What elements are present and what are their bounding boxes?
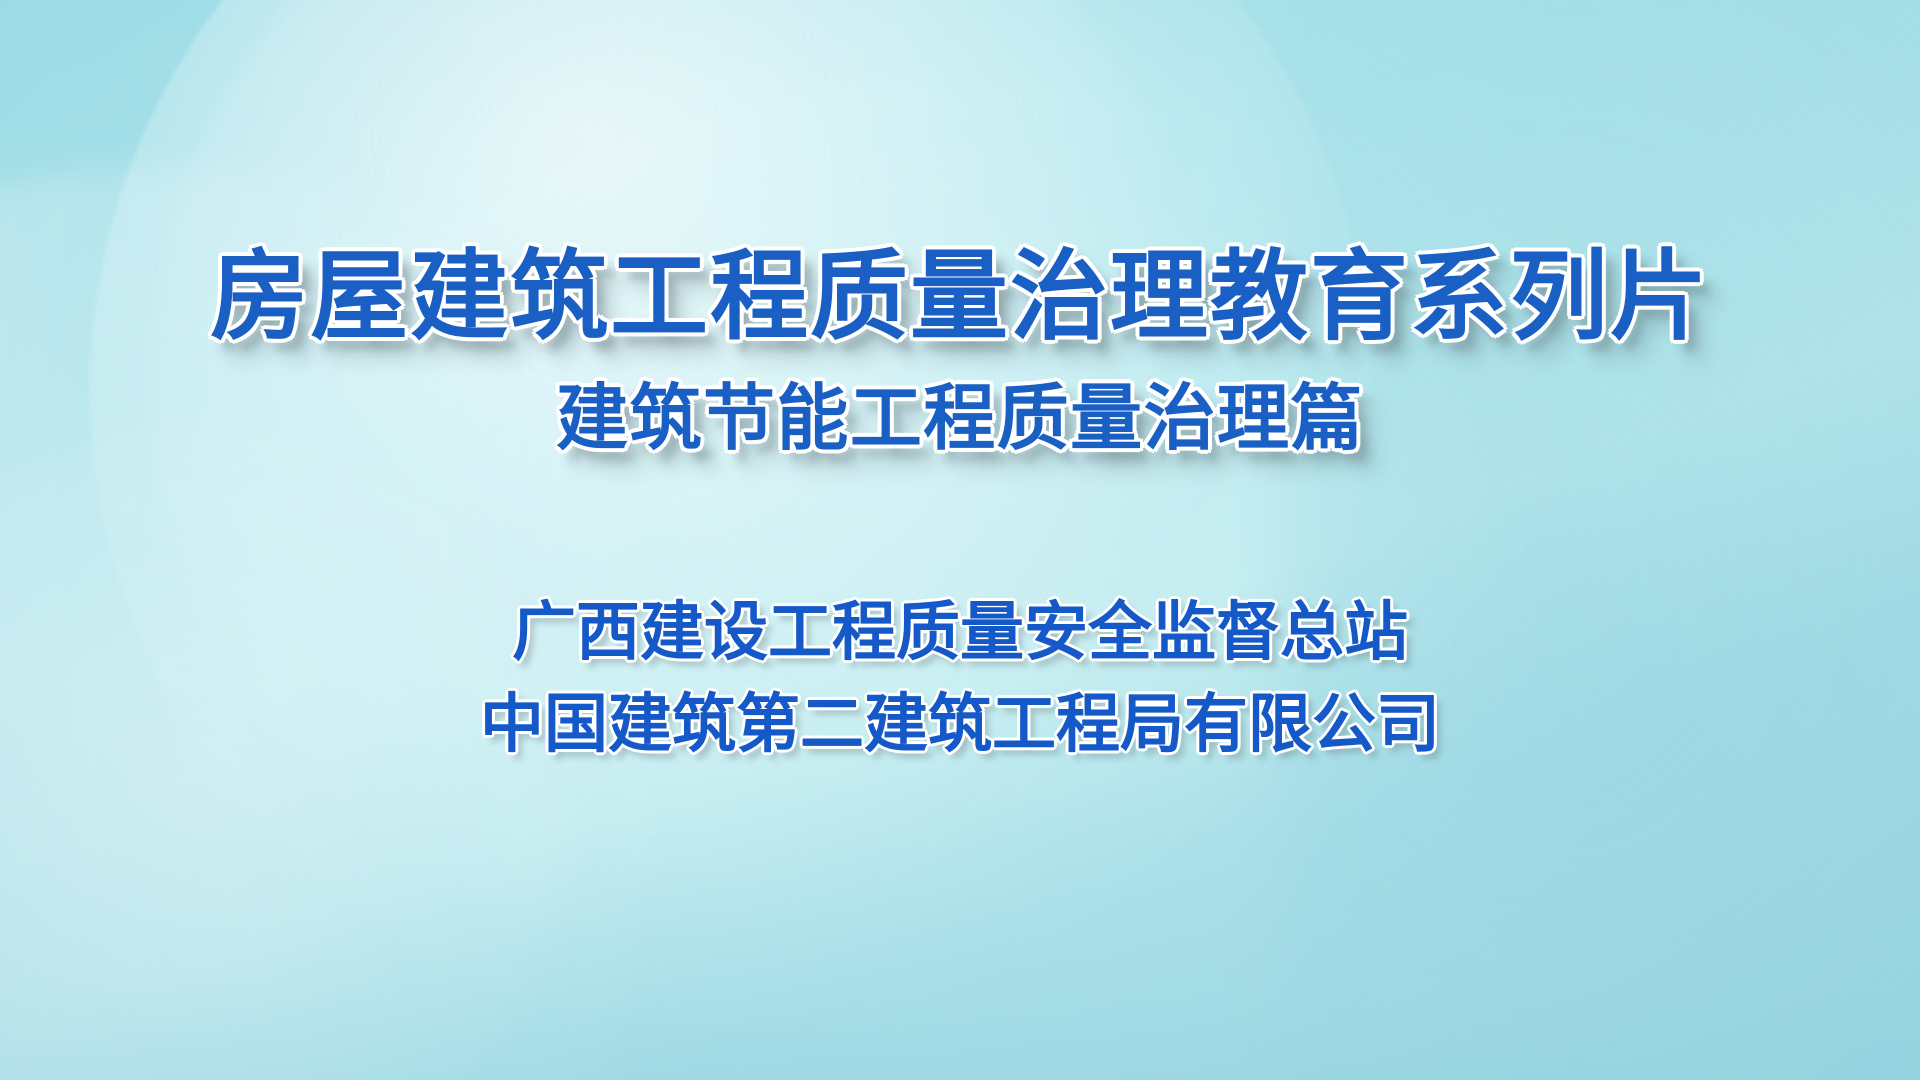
slide-content: 房屋建筑工程质量治理教育系列片 建筑节能工程质量治理篇 广西建设工程质量安全监督… xyxy=(0,0,1920,1080)
organization-block: 广西建设工程质量安全监督总站 中国建筑第二建筑工程局有限公司 xyxy=(480,594,1440,764)
organization-line-2: 中国建筑第二建筑工程局有限公司 xyxy=(480,686,1440,764)
subtitle: 建筑节能工程质量治理篇 xyxy=(556,382,1364,454)
main-title: 房屋建筑工程质量治理教育系列片 xyxy=(210,248,1709,346)
title-slide: 房屋建筑工程质量治理教育系列片 建筑节能工程质量治理篇 广西建设工程质量安全监督… xyxy=(0,0,1920,1080)
organization-line-1: 广西建设工程质量安全监督总站 xyxy=(512,594,1408,672)
